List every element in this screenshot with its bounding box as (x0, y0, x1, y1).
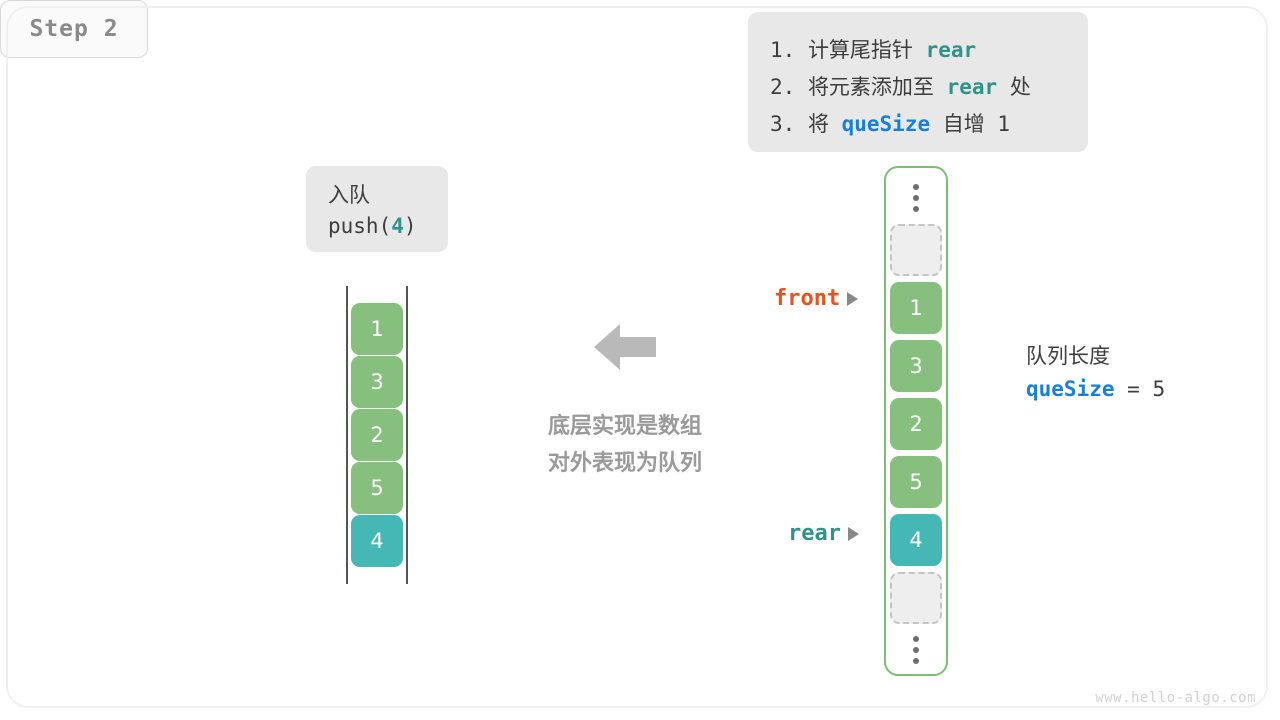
array-cell: 3 (890, 340, 942, 392)
queue-rail-right (406, 286, 408, 584)
array-concrete-view: 13254 (884, 166, 948, 676)
instruction-3-number: 3. (770, 112, 808, 136)
array-cell: 4 (890, 514, 942, 566)
array-top-ellipsis-icon (913, 178, 919, 218)
rear-pointer-arrow-icon (848, 527, 859, 541)
queue-cell: 4 (351, 515, 403, 567)
array-cell: 1 (890, 282, 942, 334)
quesize-value: 5 (1152, 377, 1165, 401)
rear-pointer-label: rear (788, 521, 859, 546)
quesize-var-name: queSize (1026, 377, 1115, 401)
step-badge: Step 2 (0, 0, 148, 58)
instruction-line-1: 1. 计算尾指针 rear (770, 32, 1088, 69)
array-empty-cell (890, 224, 942, 276)
quesize-title: 队列长度 (1026, 340, 1165, 372)
instruction-1-keyword: rear (926, 38, 977, 62)
queue-cell: 2 (351, 409, 403, 461)
mapping-caption-line-2: 对外表现为队列 (500, 445, 750, 482)
instruction-box: 1. 计算尾指针 rear 2. 将元素添加至 rear 处 3. 将 queS… (748, 12, 1088, 152)
operation-call-prefix: push( (328, 214, 391, 238)
queue-cell-list: 13254 (351, 303, 403, 567)
array-cell: 5 (890, 456, 942, 508)
operation-call: push(4) (328, 211, 448, 242)
quesize-expression: queSize = 5 (1026, 372, 1165, 406)
front-pointer-text: front (774, 286, 840, 311)
instruction-3-suffix: 自增 1 (930, 112, 1010, 136)
operation-label-box: 入队 push(4) (306, 166, 448, 252)
mapping-caption-line-1: 底层实现是数组 (500, 408, 750, 445)
operation-call-suffix: ) (404, 214, 417, 238)
step-badge-label: Step 2 (29, 16, 118, 42)
operation-title: 入队 (328, 180, 448, 211)
queue-cell: 3 (351, 356, 403, 408)
instruction-2-number: 2. (770, 75, 808, 99)
instruction-3-text: 将 (808, 112, 842, 136)
queue-cell: 5 (351, 462, 403, 514)
diagram-canvas: 1. 计算尾指针 rear 2. 将元素添加至 rear 处 3. 将 queS… (0, 0, 1280, 720)
mapping-caption: 底层实现是数组 对外表现为队列 (500, 408, 750, 482)
quesize-equals: = (1115, 377, 1153, 401)
instruction-1-text: 计算尾指针 (808, 38, 926, 62)
operation-call-value: 4 (391, 214, 404, 238)
quesize-annotation: 队列长度 queSize = 5 (1026, 340, 1165, 406)
instruction-1-number: 1. (770, 38, 808, 62)
instruction-line-2: 2. 将元素添加至 rear 处 (770, 69, 1088, 106)
rear-pointer-text: rear (788, 521, 841, 546)
instruction-3-keyword: queSize (842, 112, 931, 136)
array-cell: 2 (890, 398, 942, 450)
queue-rail-left (346, 286, 348, 584)
array-cells-container: 13254 (890, 224, 942, 624)
queue-abstract-view: 13254 (346, 286, 408, 584)
watermark: www.hello-algo.com (1095, 690, 1256, 706)
instruction-2-keyword: rear (947, 75, 998, 99)
instruction-line-3: 3. 将 queSize 自增 1 (770, 106, 1088, 143)
array-cell-list: 13254 (890, 178, 942, 670)
array-empty-cell (890, 572, 942, 624)
front-pointer-label: front (774, 286, 858, 311)
front-pointer-arrow-icon (847, 292, 858, 306)
instruction-2-text: 将元素添加至 (808, 75, 947, 99)
queue-cell: 1 (351, 303, 403, 355)
instruction-2-suffix: 处 (997, 75, 1031, 99)
mapping-arrow-icon (594, 322, 656, 372)
array-bottom-ellipsis-icon (913, 630, 919, 670)
